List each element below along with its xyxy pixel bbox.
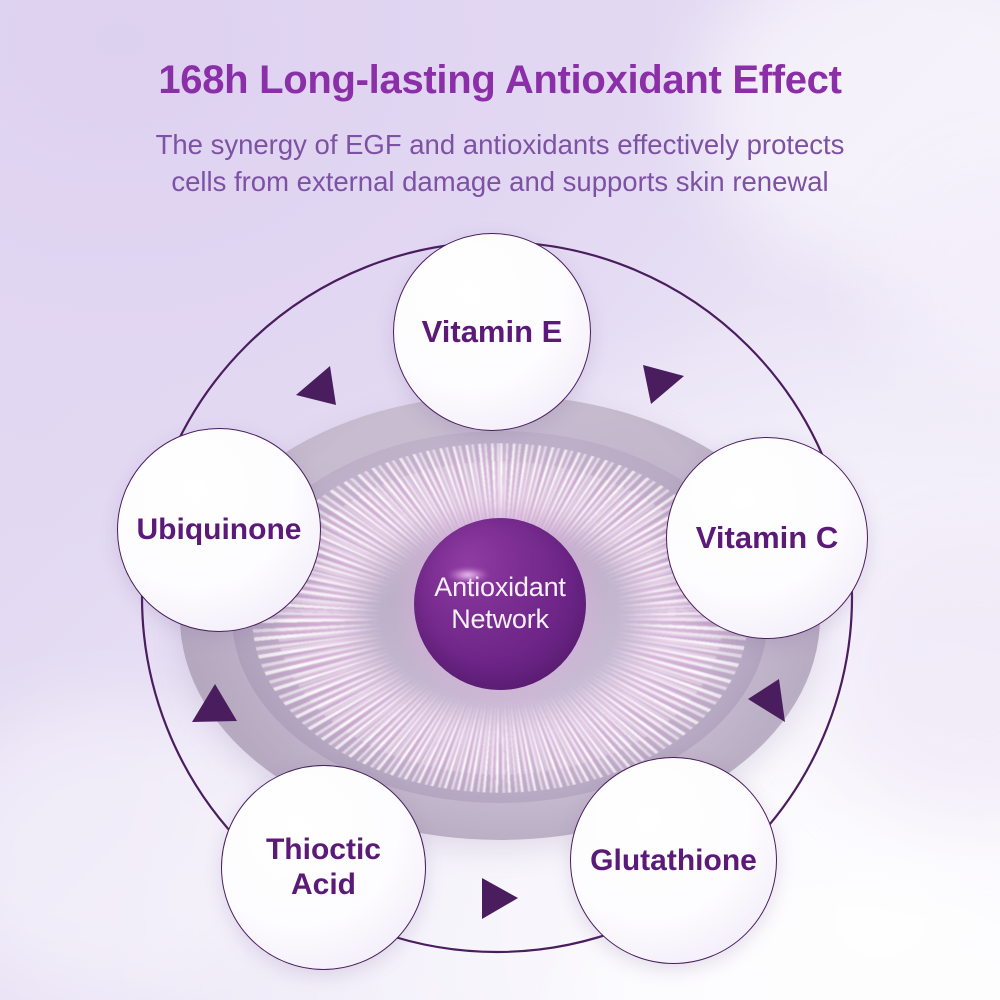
arrowhead-upper-right <box>643 365 684 404</box>
arrowhead-upper-left <box>296 366 336 405</box>
node-ubiquinone-label: Ubiquinone <box>137 513 302 547</box>
infographic-canvas: 168h Long-lasting Antioxidant Effect The… <box>0 0 1000 1000</box>
node-vitamin-e-label: Vitamin E <box>422 314 563 350</box>
node-ubiquinone[interactable]: Ubiquinone <box>117 428 321 632</box>
subtitle-line-1: The synergy of EGF and antioxidants effe… <box>60 126 940 163</box>
node-glutathione-label: Glutathione <box>590 844 757 878</box>
center-node-label-line1: Antioxidant <box>434 572 565 604</box>
arrowhead-bottom <box>482 878 518 919</box>
node-vitamin-c[interactable]: Vitamin C <box>666 437 868 639</box>
node-thioctic-acid[interactable]: Thioctic Acid <box>221 765 426 970</box>
node-vitamin-c-label: Vitamin C <box>696 520 838 556</box>
node-vitamin-e[interactable]: Vitamin E <box>393 233 591 431</box>
page-title: 168h Long-lasting Antioxidant Effect <box>0 58 1000 103</box>
node-thioctic-acid-label: Thioctic Acid <box>266 833 381 903</box>
arrowhead-lower-left <box>192 684 237 722</box>
center-node-antioxidant-network[interactable]: Antioxidant Network <box>414 518 586 690</box>
page-subtitle: The synergy of EGF and antioxidants effe… <box>60 126 940 200</box>
subtitle-line-2: cells from external damage and supports … <box>60 163 940 200</box>
center-node-label-line2: Network <box>451 604 549 636</box>
node-glutathione[interactable]: Glutathione <box>570 757 777 964</box>
arrowhead-lower-right <box>748 679 785 722</box>
